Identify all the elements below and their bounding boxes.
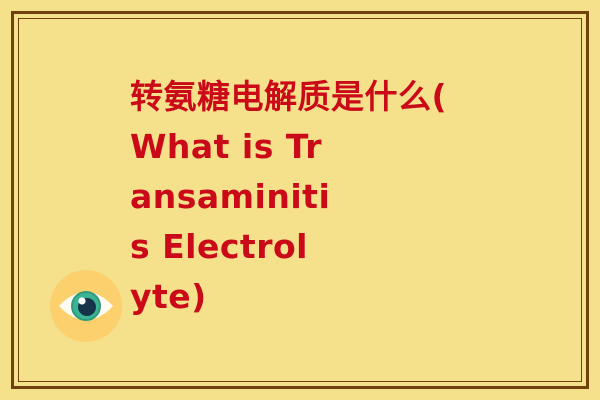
headline-line-2: What is Tr <box>130 122 550 172</box>
eye-icon-highlight <box>78 297 85 304</box>
headline-line-3: ansaminiti <box>130 172 550 222</box>
eye-icon <box>50 270 122 342</box>
headline-line-4: s Electrol <box>130 222 550 272</box>
headline-line-1: 转氨糖电解质是什么( <box>130 72 550 122</box>
headline-line-5: yte) <box>130 272 550 322</box>
poster-canvas: 转氨糖电解质是什么( What is Tr ansaminiti s Elect… <box>0 0 600 400</box>
page-title: 转氨糖电解质是什么( What is Tr ansaminiti s Elect… <box>130 72 550 322</box>
